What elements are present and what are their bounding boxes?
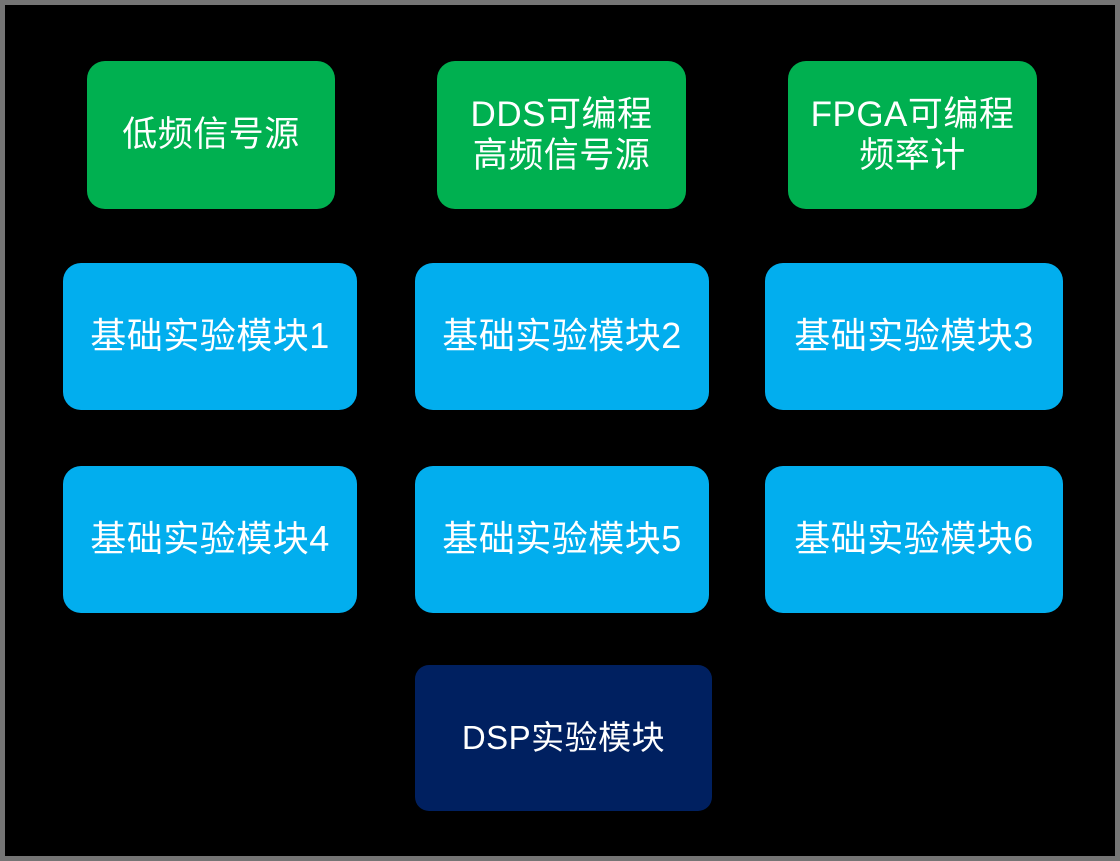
node-label-basic-experiment-module-5: 基础实验模块5	[415, 518, 709, 560]
diagram-canvas: 低频信号源DDS可编程 高频信号源FPGA可编程 频率计基础实验模块1基础实验模…	[0, 0, 1120, 861]
node-dsp-experiment-module[interactable]: DSP实验模块	[415, 665, 712, 811]
node-basic-experiment-module-2[interactable]: 基础实验模块2	[415, 263, 709, 410]
node-label-fpga-frequency-counter: FPGA可编程 频率计	[788, 94, 1037, 177]
node-basic-experiment-module-5[interactable]: 基础实验模块5	[415, 466, 709, 613]
node-label-low-freq-source: 低频信号源	[87, 114, 335, 155]
node-label-basic-experiment-module-2: 基础实验模块2	[415, 315, 709, 357]
node-basic-experiment-module-3[interactable]: 基础实验模块3	[765, 263, 1063, 410]
node-dds-high-freq-source[interactable]: DDS可编程 高频信号源	[437, 61, 686, 209]
node-label-basic-experiment-module-6: 基础实验模块6	[765, 518, 1063, 560]
node-label-dsp-experiment-module: DSP实验模块	[415, 719, 712, 758]
node-basic-experiment-module-1[interactable]: 基础实验模块1	[63, 263, 357, 410]
node-label-basic-experiment-module-4: 基础实验模块4	[63, 518, 357, 560]
node-basic-experiment-module-4[interactable]: 基础实验模块4	[63, 466, 357, 613]
node-low-freq-source[interactable]: 低频信号源	[87, 61, 335, 209]
node-label-dds-high-freq-source: DDS可编程 高频信号源	[437, 94, 686, 177]
node-label-basic-experiment-module-1: 基础实验模块1	[63, 315, 357, 357]
node-label-basic-experiment-module-3: 基础实验模块3	[765, 315, 1063, 357]
node-basic-experiment-module-6[interactable]: 基础实验模块6	[765, 466, 1063, 613]
node-fpga-frequency-counter[interactable]: FPGA可编程 频率计	[788, 61, 1037, 209]
